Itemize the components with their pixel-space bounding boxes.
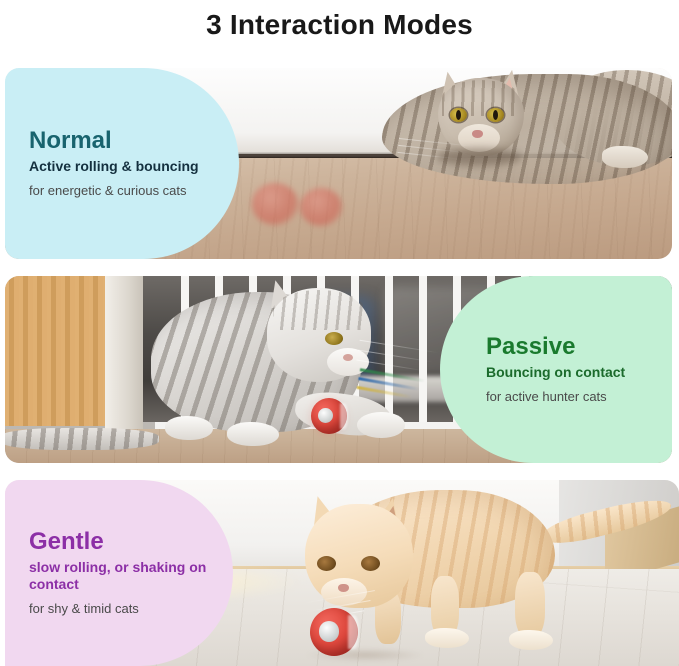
- ball-reflection-2: [300, 188, 342, 226]
- cat-paw-front-right: [227, 422, 279, 446]
- mode-subtitle-normal: Active rolling & bouncing: [29, 158, 239, 175]
- cat-pupil-left: [456, 110, 461, 120]
- cat-hind-leg: [515, 572, 545, 638]
- cat-paw-reaching: [357, 412, 405, 438]
- mode-note-gentle: for shy & timid cats: [29, 601, 233, 617]
- mode-title-gentle: Gentle: [29, 529, 233, 556]
- mode-subtitle-gentle: slow rolling, or shaking on contact: [29, 559, 233, 592]
- cat-paw-front: [425, 628, 469, 648]
- cat-tail: [5, 428, 159, 450]
- cat-paw-front-left: [165, 416, 213, 440]
- mode-card-passive: Passive Bouncing on contact for active h…: [5, 276, 672, 463]
- toy-ball-led-dot: [318, 408, 333, 423]
- mode-panel-normal: Normal Active rolling & bouncing for ene…: [5, 68, 239, 259]
- infographic-page: 3 Interaction Modes: [0, 0, 679, 666]
- mode-note-passive: for active hunter cats: [486, 389, 672, 405]
- mode-panel-gentle: Gentle slow rolling, or shaking on conta…: [5, 480, 233, 666]
- toy-ball-led-dot: [319, 621, 339, 641]
- toy-ball-highlight: [340, 403, 348, 429]
- cat-paw: [602, 146, 648, 168]
- mode-card-gentle: Gentle slow rolling, or shaking on conta…: [5, 480, 679, 666]
- toy-ball-primary: [311, 398, 347, 434]
- cat-paw-hind: [509, 630, 553, 650]
- wooden-door-panel: [5, 276, 110, 426]
- mode-note-normal: for energetic & curious cats: [29, 183, 239, 199]
- ball-reflection-1: [252, 183, 298, 225]
- mode-card-normal: Normal Active rolling & bouncing for ene…: [5, 68, 672, 259]
- toy-ball-highlight: [348, 615, 359, 650]
- mode-subtitle-passive: Bouncing on contact: [486, 364, 672, 381]
- cat-chin-shadow: [436, 148, 522, 166]
- mode-title-passive: Passive: [486, 334, 672, 361]
- cat-eye: [325, 332, 343, 345]
- cat-nose: [343, 354, 353, 361]
- mode-title-normal: Normal: [29, 128, 239, 155]
- cat-nose: [472, 130, 483, 138]
- cat-eye-left: [317, 556, 336, 571]
- cat-eye-right: [361, 556, 380, 571]
- cat-forehead-stripes: [273, 290, 365, 330]
- page-title: 3 Interaction Modes: [0, 2, 679, 48]
- mode-panel-passive: Passive Bouncing on contact for active h…: [440, 276, 672, 463]
- door-frame: [105, 276, 143, 433]
- toy-ball-primary: [310, 608, 358, 656]
- cat-pupil-right: [493, 110, 498, 120]
